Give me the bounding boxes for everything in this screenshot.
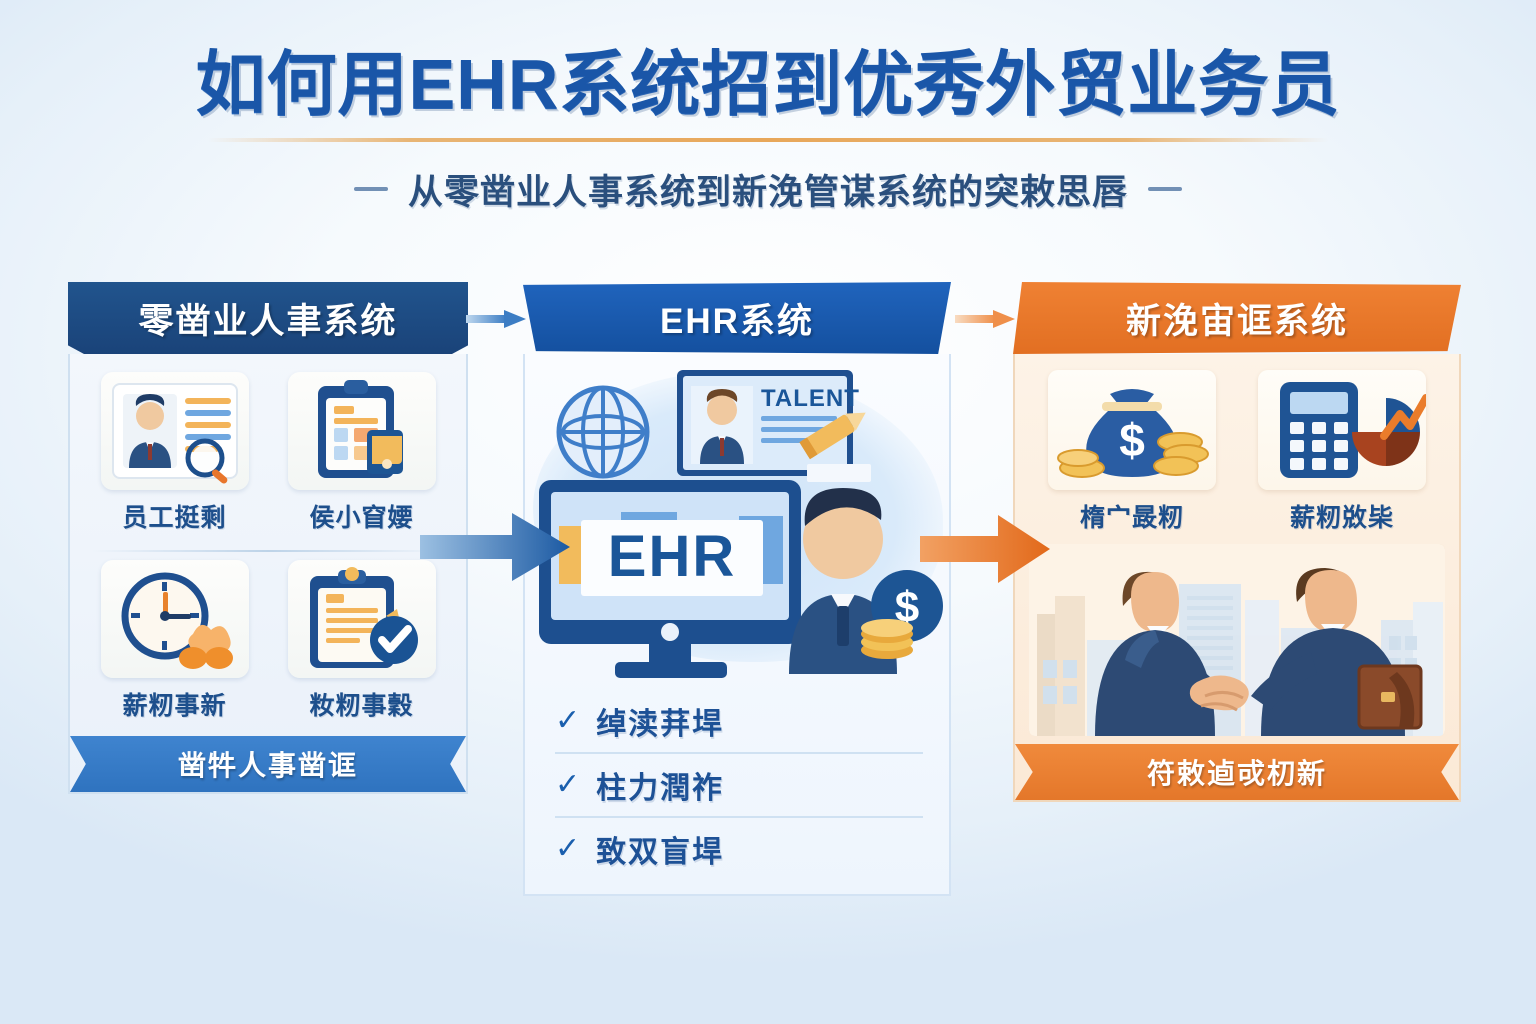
panel-recruiting-header: 新浼宙诓系统 <box>1013 282 1461 354</box>
legacy-item-0-label: 员工挺剩 <box>84 498 265 534</box>
recruiting-item-0[interactable]: $ 楕宀晸籾 <box>1031 370 1233 534</box>
clock-attendance-icon <box>101 560 249 678</box>
ehr-benefit-2-label: 致双盲垾 <box>596 827 724 871</box>
recruiting-icon-grid: $ 楕宀晸籾 <box>1015 354 1459 538</box>
ehr-benefit-1[interactable]: ✓ 柱力潤祚 <box>555 752 923 816</box>
ehr-monitor-icon: EHR <box>539 480 801 678</box>
recruiting-item-0-label: 楕宀晸籾 <box>1031 498 1233 534</box>
ehr-benefit-2[interactable]: ✓ 致双盲垾 <box>555 816 923 880</box>
panel-legacy-hr[interactable]: 零凿业人聿系统 <box>68 282 468 794</box>
check-icon-1: ✓ <box>555 770 580 800</box>
arrow-ehr-to-recruiting-big-icon <box>920 510 1050 588</box>
check-icon-0: ✓ <box>555 706 580 736</box>
title-underline <box>208 138 1328 142</box>
legacy-icon-grid: 员工挺剩 <box>70 354 466 540</box>
globe-icon <box>559 388 647 476</box>
svg-text:TALENT: TALENT <box>761 385 860 412</box>
legacy-item-2-label: 薪籾事新 <box>84 686 265 722</box>
legacy-row-divider <box>92 550 444 552</box>
calculator-chart-icon <box>1258 370 1426 490</box>
ehr-benefit-0-label: 绰渎荓垾 <box>596 699 724 743</box>
legacy-item-2[interactable]: 薪籾事新 <box>84 560 265 722</box>
page-subtitle: 从零凿业人事系统到新浼管谋系统的突敕思唇 <box>408 164 1128 215</box>
svg-text:$: $ <box>1119 414 1145 466</box>
panel-recruiting-tag: 符敕逌戓朷新 <box>1015 744 1459 800</box>
panel-legacy-hr-body: 员工挺剩 <box>68 354 468 794</box>
employee-profile-search-icon <box>101 372 249 490</box>
panel-ehr-body: TALENT <box>523 354 951 896</box>
ehr-hero-illustration: TALENT <box>525 354 949 684</box>
title-block: 如何用EHR系统招到优秀外贸业务员 从零凿业人事系统到新浼管谋系统的突敕思唇 <box>0 48 1536 215</box>
subtitle-dash-left-icon <box>354 187 388 191</box>
panel-legacy-hr-tag: 凿牪人事凿诓 <box>70 736 466 792</box>
handshake-cityscape-image <box>1029 544 1445 736</box>
panel-ehr-header: EHR系统 <box>523 282 951 354</box>
panel-ehr-system[interactable]: EHR系统 <box>523 282 951 896</box>
flow-diagram: 零凿业人聿系统 <box>0 282 1536 882</box>
arrow-legacy-to-ehr-big-icon <box>420 507 570 587</box>
subtitle-row: 从零凿业人事系统到新浼管谋系统的突敕思唇 <box>0 164 1536 215</box>
legacy-item-3-label: 籹籾事穀 <box>271 686 452 722</box>
panel-new-recruiting[interactable]: 新浼宙诓系统 $ <box>1013 282 1461 802</box>
legacy-icon-grid-2: 薪籾事新 <box>70 560 466 728</box>
clipboard-folder-icon <box>288 372 436 490</box>
arrow-ehr-to-recruiting-small-icon <box>955 308 1015 330</box>
check-icon-2: ✓ <box>555 834 580 864</box>
arrow-legacy-to-ehr-small-icon <box>466 308 526 330</box>
ehr-benefit-0[interactable]: ✓ 绰渎荓垾 <box>555 690 923 752</box>
panel-recruiting-body: $ 楕宀晸籾 <box>1013 354 1461 802</box>
talent-card: TALENT <box>677 370 871 482</box>
legacy-item-0[interactable]: 员工挺剩 <box>84 372 265 534</box>
recruiting-item-1-label: 薪籾敚枈 <box>1241 498 1443 534</box>
clipboard-check-icon <box>288 560 436 678</box>
recruiting-item-1[interactable]: 薪籾敚枈 <box>1241 370 1443 534</box>
panel-legacy-hr-header: 零凿业人聿系统 <box>68 282 468 354</box>
page-title: 如何用EHR系统招到优秀外贸业务员 <box>0 48 1536 122</box>
money-bag-coins-icon: $ <box>1048 370 1216 490</box>
svg-text:EHR: EHR <box>608 524 736 589</box>
ehr-benefit-1-label: 柱力潤祚 <box>596 763 724 807</box>
subtitle-dash-right-icon <box>1148 187 1182 191</box>
ehr-benefits-checklist: ✓ 绰渎荓垾 ✓ 柱力潤祚 ✓ 致双盲垾 <box>525 684 949 894</box>
